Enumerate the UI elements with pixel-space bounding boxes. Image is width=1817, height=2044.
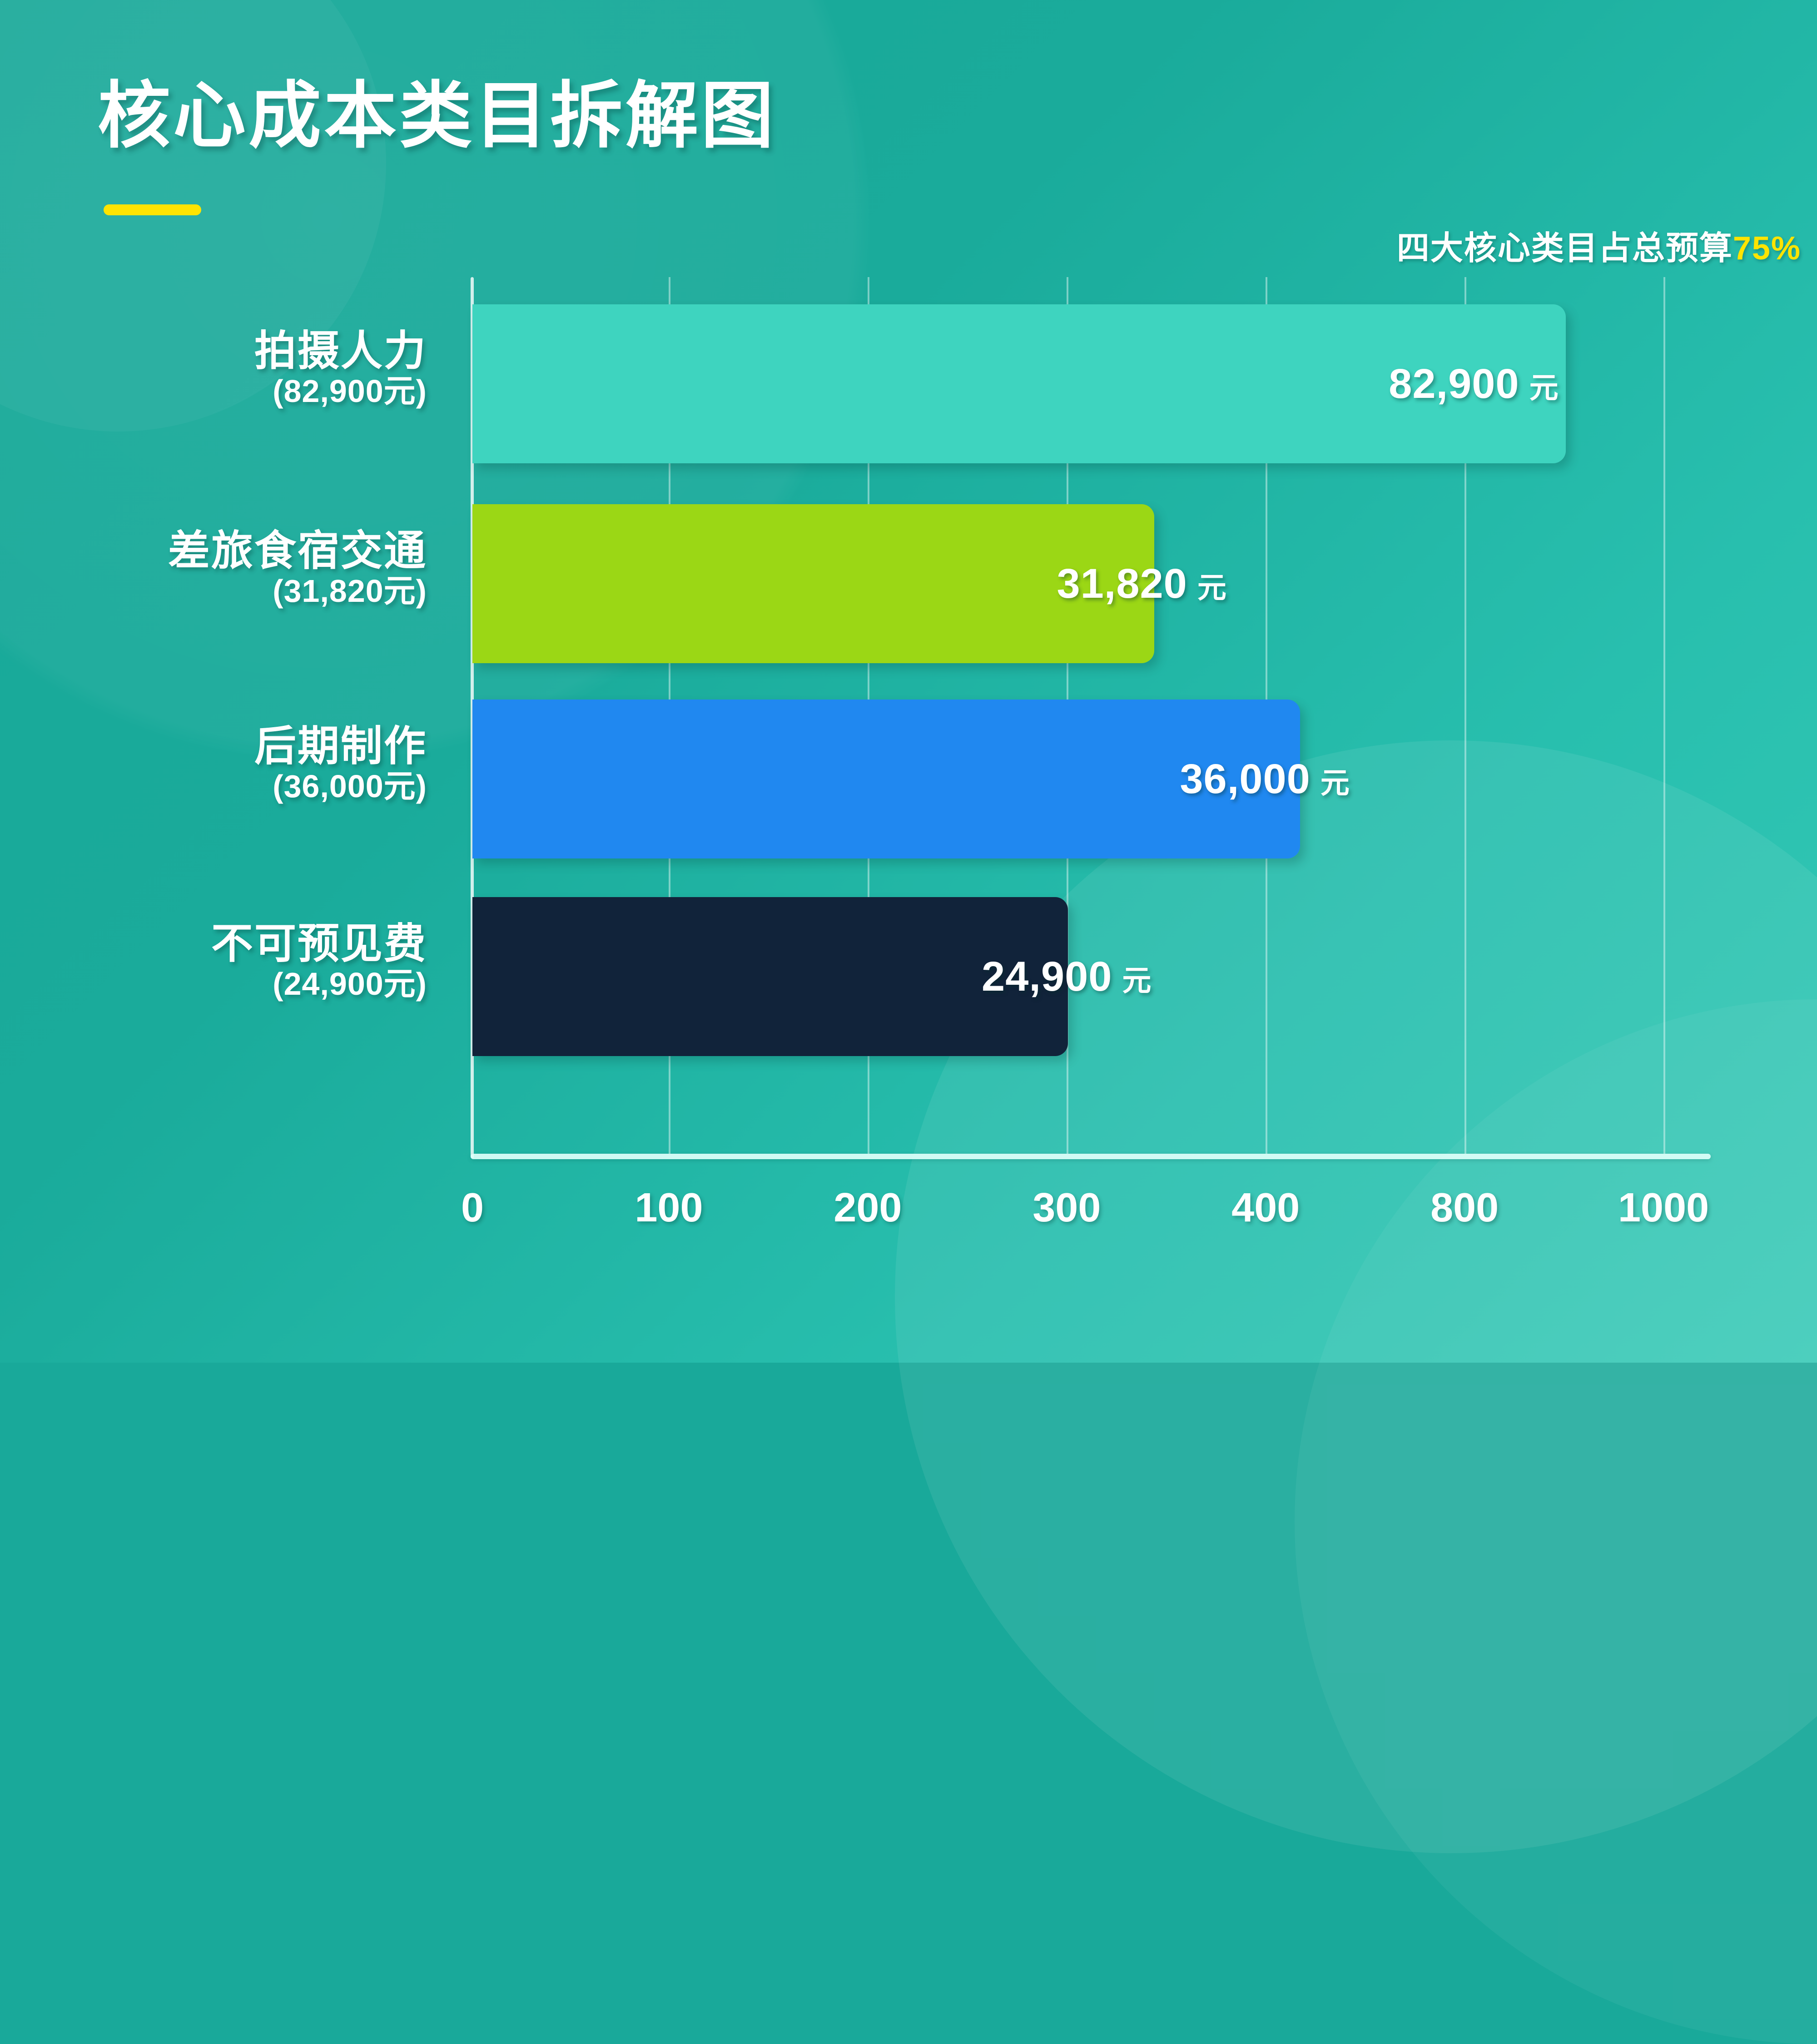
bar-value-label: 31,820元 xyxy=(1057,560,1226,608)
category-label-name: 后期制作 xyxy=(254,724,427,769)
bar[interactable]: 24,900元 xyxy=(472,897,1068,1056)
category-label-name: 差旅食宿交通 xyxy=(168,529,427,573)
bar[interactable]: 36,000元 xyxy=(472,700,1300,858)
x-axis-line xyxy=(471,1154,1711,1159)
chart-plot-area: 82,900元31,820元36,000元24,900元 xyxy=(472,277,1708,1154)
category-label-amount: (31,820元) xyxy=(168,573,427,609)
bar-value-label: 24,900元 xyxy=(982,953,1151,1001)
bar[interactable]: 31,820元 xyxy=(472,504,1154,663)
bar[interactable]: 82,900元 xyxy=(472,304,1566,463)
bar-value-unit: 元 xyxy=(1321,760,1350,802)
page-title: 核心成本类目拆解图 xyxy=(98,79,776,152)
subtitle-text: 四大核心类目占总预算 xyxy=(1397,230,1733,267)
category-label: 不可预见费(24,900元) xyxy=(211,922,427,1002)
bar-value-label: 36,000元 xyxy=(1180,755,1349,803)
category-label-amount: (24,900元) xyxy=(211,966,427,1002)
bar-value-label: 82,900元 xyxy=(1389,360,1558,408)
x-tick-label: 300 xyxy=(1033,1185,1101,1231)
category-label-name: 不可预见费 xyxy=(211,922,427,966)
x-tick-label: 100 xyxy=(635,1185,703,1231)
title-underline-accent xyxy=(104,204,201,215)
bar-value-number: 36,000 xyxy=(1180,755,1310,803)
bar-value-number: 31,820 xyxy=(1057,560,1187,608)
x-tick-label: 400 xyxy=(1231,1185,1300,1231)
gridline xyxy=(1663,277,1665,1154)
bar-value-number: 82,900 xyxy=(1389,360,1519,408)
category-label: 差旅食宿交通(31,820元) xyxy=(168,529,427,609)
x-tick-label: 200 xyxy=(834,1185,902,1231)
bar-value-unit: 元 xyxy=(1529,365,1559,407)
category-label: 拍摄人力(82,900元) xyxy=(254,329,427,409)
subtitle: 四大核心类目占总预算75% xyxy=(1397,221,1801,269)
x-tick-label: 800 xyxy=(1430,1185,1499,1231)
category-label: 后期制作(36,000元) xyxy=(254,724,427,804)
bar-value-unit: 元 xyxy=(1122,958,1151,999)
x-tick-label: 0 xyxy=(461,1185,484,1231)
bar-value-unit: 元 xyxy=(1197,565,1226,606)
x-tick-label: 1000 xyxy=(1618,1185,1709,1231)
category-label-amount: (36,000元) xyxy=(254,769,427,804)
slide-canvas: 核心成本类目拆解图 四大核心类目占总预算75% 82,900元31,820元36… xyxy=(0,0,1817,1363)
category-label-amount: (82,900元) xyxy=(254,373,427,409)
category-label-name: 拍摄人力 xyxy=(254,329,427,373)
subtitle-percentage: 75% xyxy=(1733,230,1801,267)
bar-value-number: 24,900 xyxy=(982,953,1112,1001)
